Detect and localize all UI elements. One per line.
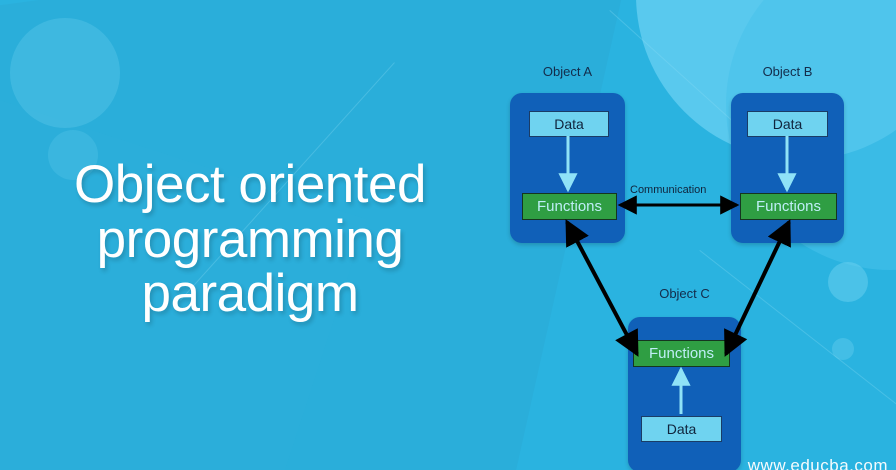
object-c-label: Object C	[628, 286, 741, 301]
slide-canvas: Object oriented programming paradigm Obj…	[0, 0, 896, 470]
object-b-data-box[interactable]: Data	[747, 111, 828, 137]
object-c-functions-box[interactable]: Functions	[633, 340, 730, 367]
object-a-data-box[interactable]: Data	[529, 111, 609, 137]
communication-label: Communication	[630, 184, 706, 196]
object-b-functions-box[interactable]: Functions	[740, 193, 837, 220]
object-c-data-box[interactable]: Data	[641, 416, 722, 442]
object-a-label: Object A	[510, 64, 625, 79]
diagram-area: Object A Data Functions Object B Data Fu…	[0, 0, 896, 470]
watermark: www.educba.com	[748, 456, 888, 470]
object-a-functions-box[interactable]: Functions	[522, 193, 617, 220]
object-b-label: Object B	[731, 64, 844, 79]
